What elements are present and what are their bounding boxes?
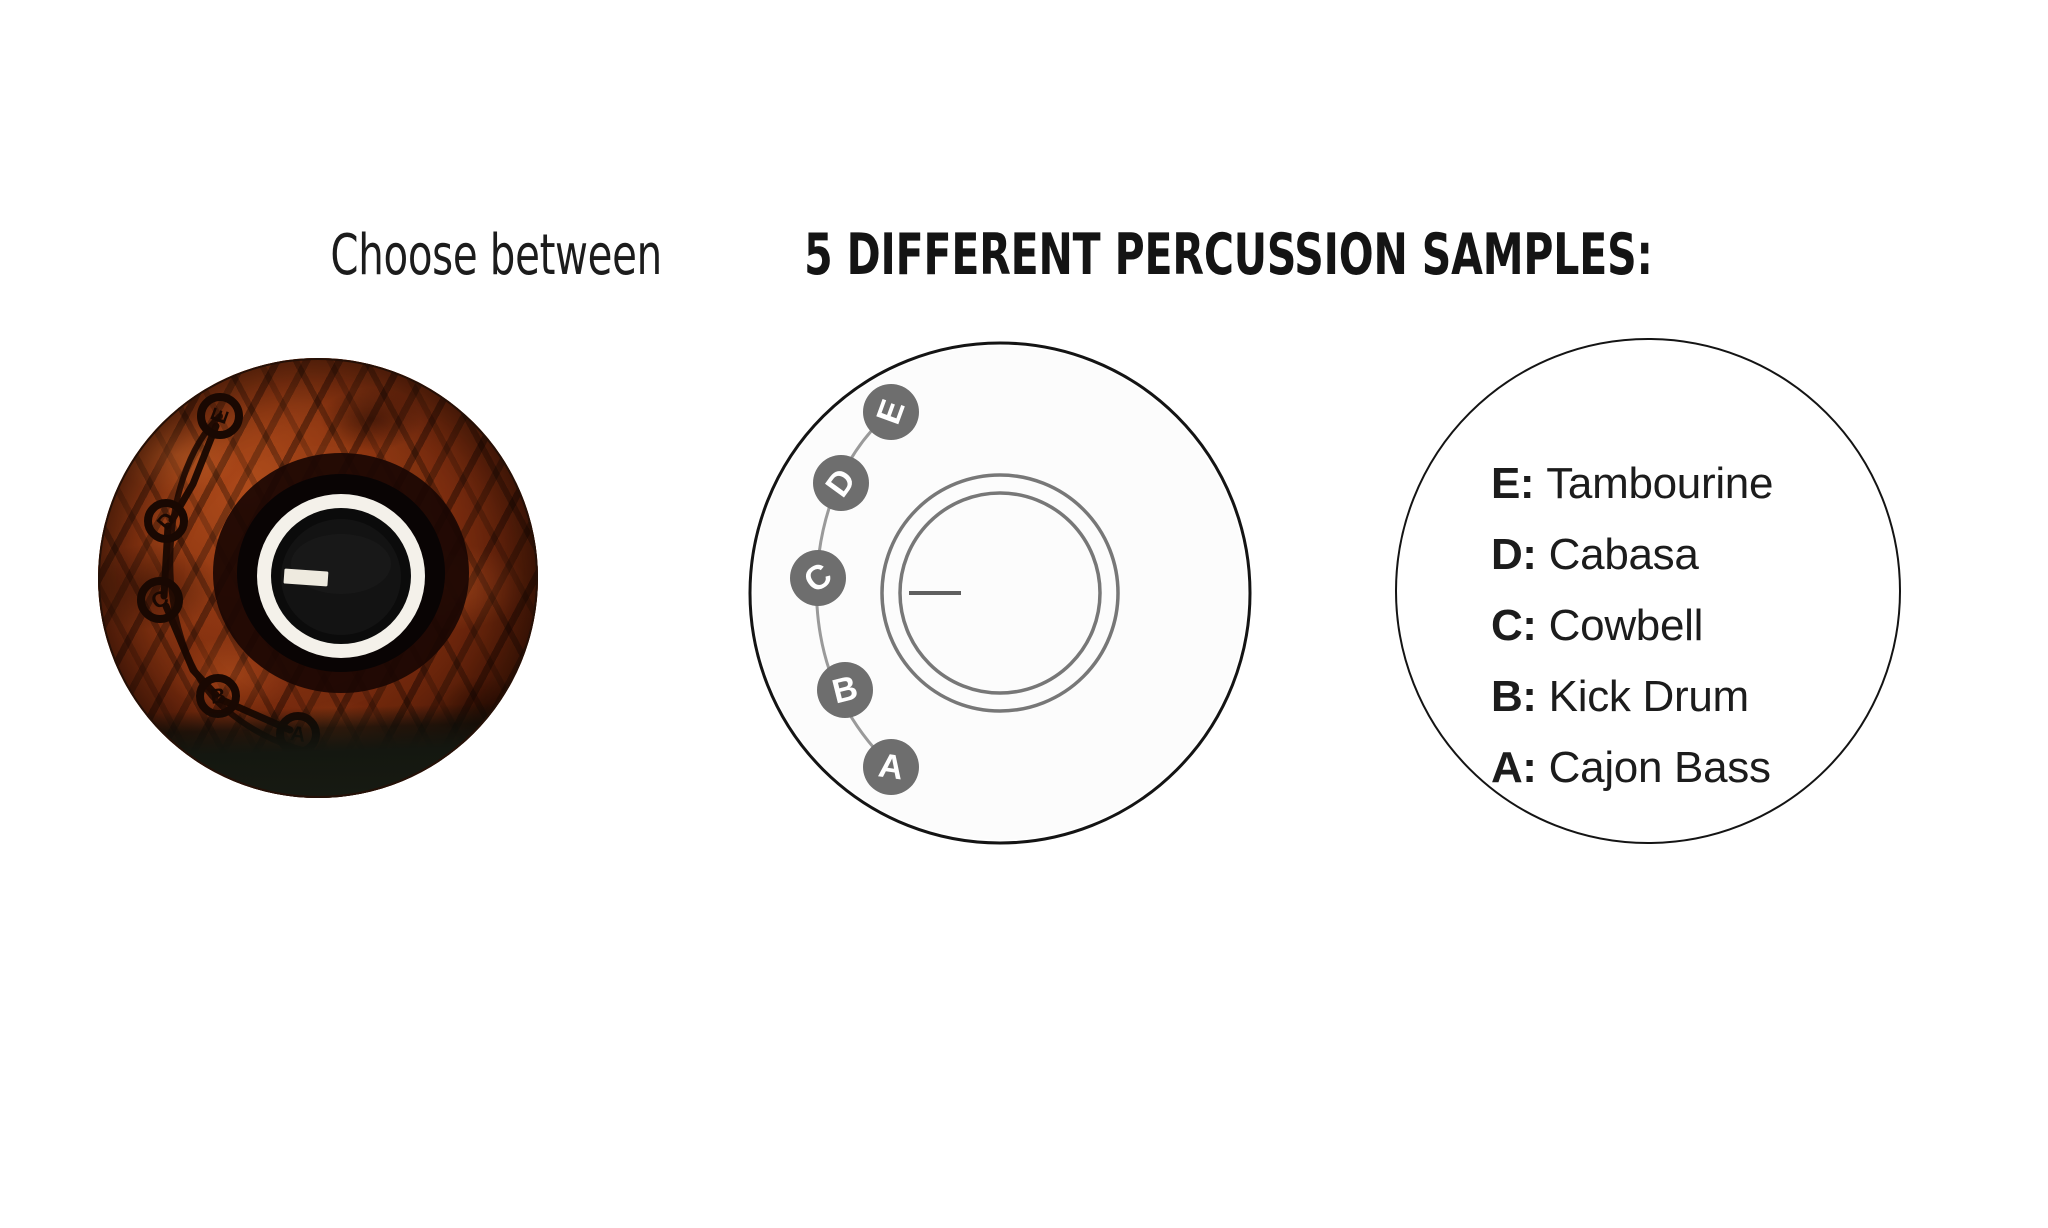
knob-photo-assembly (213, 453, 469, 693)
knob-marker-a-label: A (876, 746, 906, 787)
knob-marker-b: B (817, 662, 873, 718)
legend-item-a: A: Cajon Bass (1491, 732, 1851, 803)
legend-name-d: Cabasa (1549, 530, 1699, 579)
legend-panel: E: Tambourine D: Cabasa C: Cowbell B: Ki… (1395, 338, 1905, 848)
engraved-letter-b: B (200, 678, 236, 714)
svg-text:B: B (209, 684, 227, 709)
legend-item-e: E: Tambourine (1491, 448, 1851, 519)
photo-bottom-shadow (98, 701, 538, 798)
knob-diagram-panel: E D C B A (745, 338, 1255, 848)
knob-diagram: E D C B A (745, 338, 1255, 848)
knob-marker-a: A (863, 739, 919, 795)
page-title: Choose between 5 DIFFERENT PERCUSSION SA… (0, 222, 2048, 288)
knob-marker-c: C (790, 550, 846, 606)
legend-key-a: A: (1491, 743, 1536, 792)
legend-key-c: C: (1491, 601, 1536, 650)
legend-item-d: D: Cabasa (1491, 519, 1851, 590)
legend-key-d: D: (1491, 530, 1536, 579)
legend-key-b: B: (1491, 672, 1536, 721)
legend-item-c: C: Cowbell (1491, 590, 1851, 661)
knob-marker-e: E (863, 384, 919, 440)
legend-name-a: Cajon Bass (1549, 743, 1771, 792)
page-title-bold: 5 DIFFERENT PERCUSSION SAMPLES: (804, 222, 1653, 288)
legend-name-c: Cowbell (1549, 601, 1703, 650)
page-title-regular: Choose between (331, 223, 662, 288)
engraved-letter-e: E (201, 397, 239, 435)
legend-item-b: B: Kick Drum (1491, 661, 1851, 732)
legend-list: E: Tambourine D: Cabasa C: Cowbell B: Ki… (1491, 448, 1851, 803)
legend-name-e: Tambourine (1546, 459, 1773, 508)
legend-key-e: E: (1491, 459, 1534, 508)
knob-marker-d: D (813, 455, 869, 511)
knob-indicator-line (283, 568, 328, 586)
knob-photo-circle: E D C B A (98, 358, 538, 798)
legend-name-b: Kick Drum (1549, 672, 1749, 721)
knob-photo-panel: E D C B A (98, 358, 538, 798)
